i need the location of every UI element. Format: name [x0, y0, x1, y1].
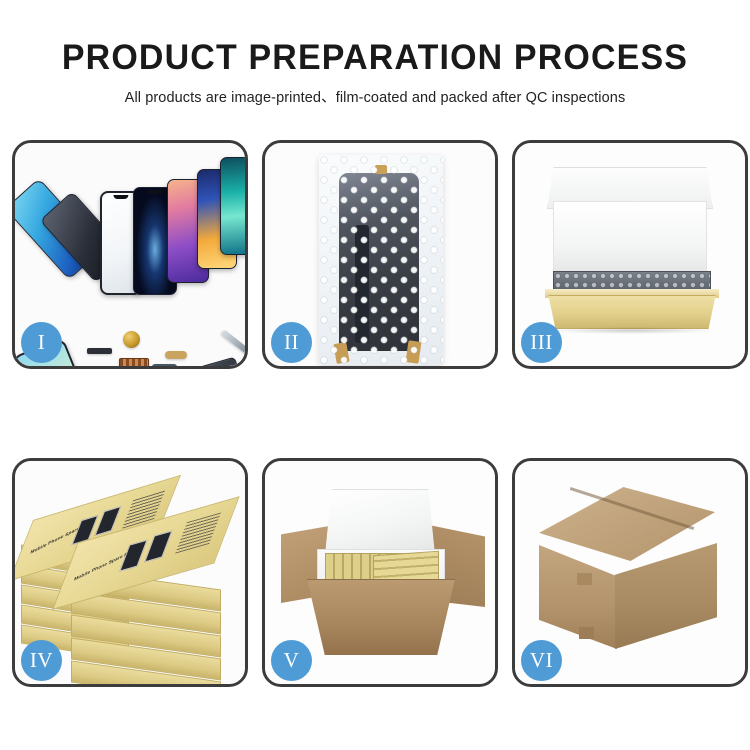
carton-top-face [539, 487, 715, 561]
process-step-panel-3[interactable]: III [512, 140, 748, 369]
carton-body [307, 579, 455, 655]
process-step-panel-2[interactable]: II [262, 140, 498, 369]
box-shadow [551, 327, 713, 334]
step-badge-1: I [21, 322, 62, 363]
gold-connector-part [165, 351, 187, 359]
process-step-panel-4[interactable]: Mobile Phone Spare Parts Mobile Phone Sp… [12, 458, 248, 687]
box-front-panel [543, 295, 721, 329]
notch-icon [113, 195, 128, 199]
step-badge-3: III [521, 322, 562, 363]
process-step-panel-5[interactable]: V [262, 458, 498, 687]
carton-left-face [539, 545, 617, 649]
box-spec-lines-front [175, 512, 221, 553]
step-badge-6: VI [521, 640, 562, 681]
process-step-panel-1[interactable]: I [12, 140, 248, 369]
vibration-motor-part [123, 331, 140, 348]
step-badge-2: II [271, 322, 312, 363]
page-subtitle: All products are image-printed、film-coat… [0, 86, 750, 107]
page-header: PRODUCT PREPARATION PROCESS All products… [0, 0, 750, 107]
foam-box-lid [325, 489, 435, 555]
step-badge-5: V [271, 640, 312, 681]
notch-icon [147, 190, 164, 194]
flex-cable-part-3 [152, 364, 177, 366]
carton-tape-patch-bottom [579, 627, 594, 639]
step-badge-4: IV [21, 640, 62, 681]
carton-tape-patch-top [577, 573, 592, 585]
box-screen-image-front-2 [144, 530, 172, 562]
process-step-panel-6[interactable]: VI [512, 458, 748, 687]
cyan-display-phone [220, 157, 245, 255]
page-title: PRODUCT PREPARATION PROCESS [11, 40, 739, 77]
screwdriver-tool [220, 329, 245, 358]
bubble-wrap-bag [319, 155, 443, 365]
speaker-bar-part [87, 348, 112, 354]
white-foam-sheet [553, 201, 707, 273]
bubble-texture [319, 155, 443, 365]
process-step-grid: I II [0, 140, 750, 687]
screw-grid-part [119, 358, 149, 366]
